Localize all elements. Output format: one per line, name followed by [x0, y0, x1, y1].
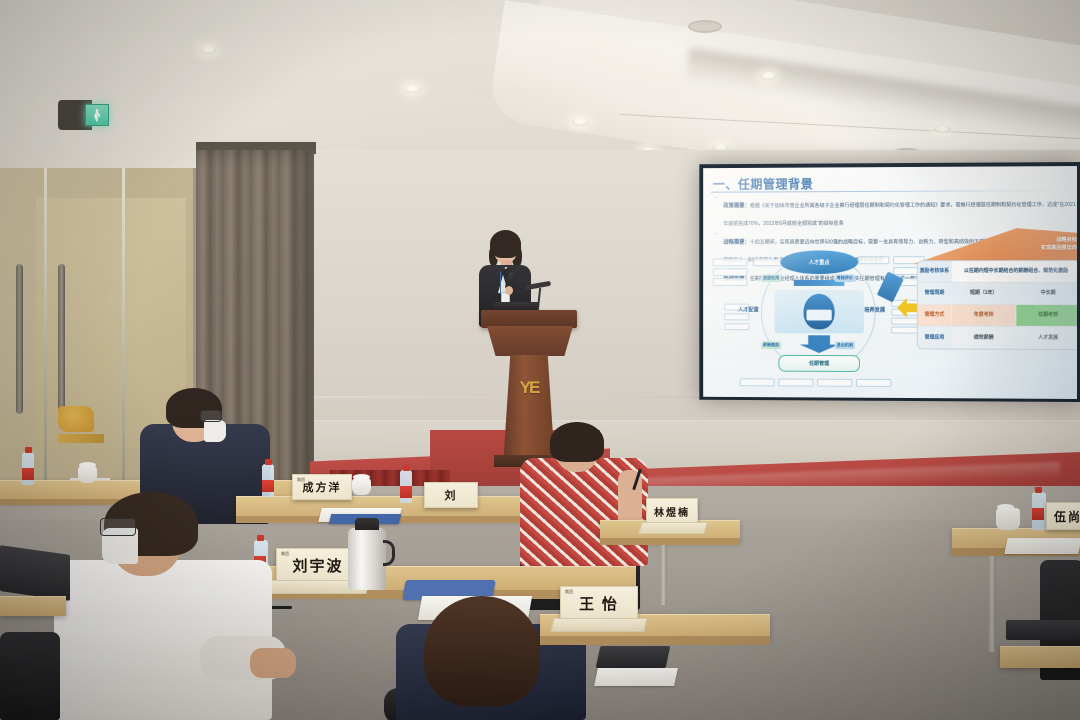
- diagram-tag: 考核评价: [835, 274, 855, 282]
- notebook: [1004, 538, 1080, 554]
- conference-room-screenshot: 一、任期管理背景 - 政策需要：根据《关于加快市管企业所属各级子企业推行经理层任…: [0, 0, 1080, 720]
- teacup: [996, 508, 1020, 530]
- podium-column: [503, 355, 555, 467]
- conference-table: [1000, 646, 1080, 668]
- diagram-tag: 选拔任用: [761, 274, 781, 282]
- placard-name: 刘: [445, 487, 458, 503]
- company-logo-wordmark: [58, 434, 104, 443]
- tablet-device[interactable]: [0, 545, 70, 601]
- water-bottle: [1032, 492, 1046, 530]
- table-leg: [988, 556, 996, 652]
- diagram-mini-box: [713, 278, 748, 286]
- placard-liu: 刘: [424, 482, 478, 508]
- diagram-mini-box: [856, 379, 891, 387]
- placard-wushang: 伍尚: [1046, 502, 1080, 530]
- placard-base: [638, 522, 708, 534]
- teacup-lid: [79, 462, 96, 468]
- podium-top: [481, 310, 577, 328]
- table-cell: 中长期: [1015, 283, 1077, 304]
- laptop[interactable]: [596, 646, 671, 668]
- placard-linyn: 林煜楠: [646, 498, 698, 524]
- incentive-table: 激励考核体系 以任期内短中长期结合的薪酬组合、规范化激励 管理周期 短期（1年）…: [917, 260, 1077, 350]
- table-cell: 任期考核: [1015, 305, 1077, 326]
- bottle-cap: [1035, 487, 1042, 493]
- diagram-node-left: 人才配置: [726, 306, 770, 314]
- table-cell: 绩效薪酬: [951, 327, 1015, 349]
- placard-base: [551, 618, 648, 632]
- diagram-mini-box: [778, 379, 813, 387]
- placard-org-label: 集团: [565, 589, 573, 595]
- thermos-lid: [355, 518, 379, 530]
- downlight-icon: [934, 125, 951, 133]
- placard-org-label: 集团: [281, 551, 289, 557]
- speaker-hair: [490, 230, 521, 258]
- diagram-mini-box: [724, 323, 749, 330]
- placard-name: 成方洋: [303, 479, 342, 495]
- bottle-cap: [403, 465, 410, 471]
- attendee-hair: [550, 422, 604, 462]
- downlight-icon: [572, 118, 589, 126]
- speaker-hand: [505, 286, 513, 295]
- bottle-cap: [265, 459, 272, 465]
- company-logo-icon: [58, 406, 94, 432]
- diagram-mini-box: [713, 268, 748, 276]
- exit-sign-icon: [85, 104, 109, 126]
- diagram-mini-box: [713, 258, 748, 266]
- bottle-label: [1032, 508, 1044, 520]
- table-row: 管理周期 短期（1年） 中长期: [918, 283, 1077, 305]
- water-bottle: [262, 464, 274, 497]
- diagram-node-bottom: 任期管理: [778, 355, 860, 372]
- downlight-icon: [200, 46, 217, 54]
- eyeglasses-icon: [100, 518, 136, 536]
- diagram-mini-box: [753, 258, 782, 266]
- placard-cheng: 集团 成方洋: [292, 474, 352, 500]
- laptop[interactable]: [1006, 620, 1080, 640]
- ceiling-vent-icon: [688, 20, 722, 33]
- thermos-flask: [348, 528, 386, 590]
- podium-logo-icon: YE: [515, 378, 543, 398]
- water-bottle: [400, 470, 412, 503]
- diagram-tag: 薪酬激励: [761, 341, 781, 349]
- conference-table: [0, 596, 66, 616]
- table-edge: [540, 636, 770, 645]
- bottle-cap: [25, 447, 32, 453]
- door-handle[interactable]: [58, 264, 65, 414]
- downlight-icon: [760, 72, 777, 80]
- slide-title: 一、任期管理背景: [713, 173, 814, 192]
- running-man-glyph: [94, 109, 101, 122]
- table-row-label: 管理方式: [918, 305, 951, 326]
- chair[interactable]: [0, 632, 60, 720]
- diagram-tag: 退出机制: [835, 341, 855, 349]
- placard-wangyi: 集团 王 怡: [560, 586, 638, 620]
- table-row-label: 管理应用: [918, 327, 951, 349]
- teacup: [78, 466, 97, 483]
- downlight-icon: [404, 85, 421, 93]
- teacup: [352, 478, 371, 495]
- placard-org-label: 集团: [297, 477, 305, 483]
- bottle-label: [22, 468, 34, 480]
- diagram-node-right: 培养发展: [852, 306, 897, 314]
- diagram-mini-box: [858, 256, 889, 264]
- table-cell: 以任期内短中长期结合的薪酬组合、规范化激励: [951, 261, 1077, 282]
- bottle-label: [400, 486, 412, 498]
- slide-bullet: - 政策需要：根据《关于加快市管企业所属各级子企业推行经理层任期制和契约化管理工…: [715, 193, 1077, 230]
- table-cell: 年度考核: [951, 305, 1015, 326]
- placard-name: 王 怡: [579, 593, 619, 614]
- roof-banner-text: 战略目标 实现高回报迈向: [1041, 236, 1077, 252]
- table-row-label: 管理周期: [918, 283, 951, 304]
- face-mask: [204, 420, 226, 442]
- bullet-text: 根据《关于加快市管企业所属各级子企业推行经理层任期制和契约化管理工作的通知》要求…: [723, 202, 1075, 227]
- placard-name: 刘宇波: [292, 555, 343, 576]
- attendee-hand: [250, 648, 296, 678]
- table-row: 管理应用 绩效薪酬 人才发展: [918, 327, 1077, 349]
- teacup-lid: [997, 504, 1014, 510]
- bottle-cap: [257, 535, 264, 541]
- water-bottle: [22, 452, 34, 485]
- diagram-center-icon: [804, 294, 835, 330]
- diagram-mini-box: [817, 379, 852, 387]
- roof-line-2: 实现高回报迈向: [1041, 244, 1077, 252]
- notebook: [594, 668, 678, 686]
- diagram-mini-box: [740, 378, 775, 386]
- diagram-mini-box: [724, 313, 749, 320]
- presentation-slide: 一、任期管理背景 - 政策需要：根据《关于加快市管企业所属各级子企业推行经理层任…: [703, 166, 1077, 399]
- table-leg: [660, 545, 667, 605]
- placard-name: 伍尚: [1054, 508, 1080, 525]
- table-edge: [600, 538, 740, 545]
- table-row-label: 激励考核体系: [918, 261, 951, 282]
- bullet-lead: 政策需要：: [723, 203, 749, 209]
- slide-right-panel: 战略目标 实现高回报迈向 激励考核体系 以任期内短中长期结合的薪酬组合、规范化激…: [911, 228, 1077, 374]
- podium-desk: [487, 326, 573, 356]
- placard-name: 林煜楠: [654, 504, 690, 519]
- teacup-lid: [353, 474, 370, 480]
- table-row: 管理方式 年度考核 任期考核: [918, 305, 1077, 327]
- eyeglasses-icon: [200, 410, 222, 422]
- roof-line-1: 战略目标: [1041, 236, 1077, 244]
- diagram-node-top: 人才重点: [780, 250, 858, 274]
- table-cell: 人才发展: [1015, 327, 1077, 349]
- projection-screen: 一、任期管理背景 - 政策需要：根据《关于加快市管企业所属各级子企业推行经理层任…: [699, 162, 1080, 402]
- diagram-diamond-icon: [877, 271, 904, 302]
- table-cell: 短期（1年）: [951, 283, 1015, 304]
- attendee-hair: [424, 596, 540, 706]
- slide-cycle-diagram: 人才重点 人才配置 培养发展 任期管理 选拔任用 考核评价 薪酬激励 退出机制: [711, 244, 927, 393]
- table-row: 激励考核体系 以任期内短中长期结合的薪酬组合、规范化激励: [918, 261, 1077, 283]
- door-handle[interactable]: [16, 264, 23, 414]
- glass-mullion: [44, 168, 47, 498]
- bottle-label: [262, 480, 274, 492]
- glass-mullion: [122, 168, 125, 498]
- bullet-dash-icon: -: [715, 195, 721, 230]
